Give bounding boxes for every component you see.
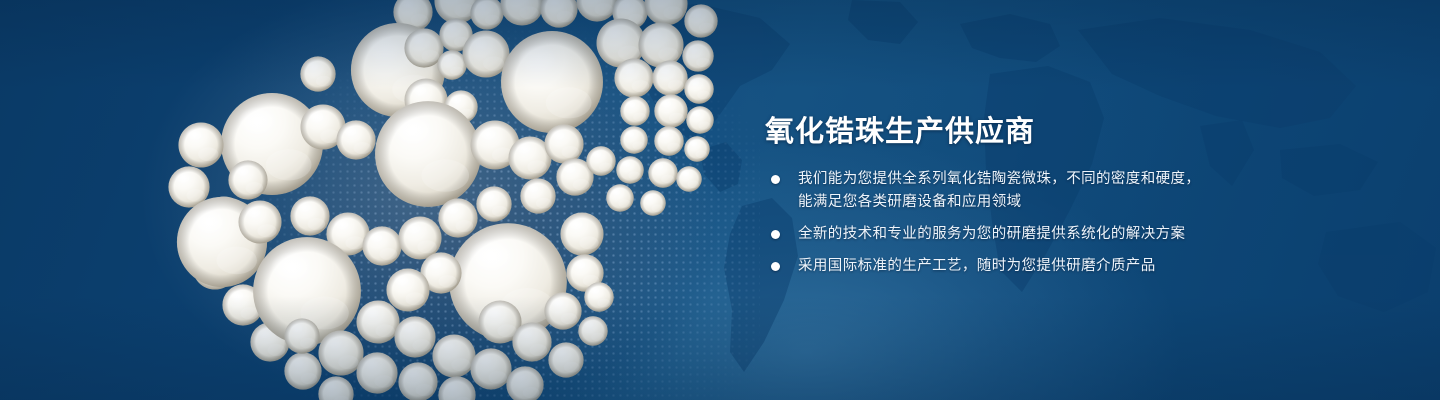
bullet-dot-icon — [771, 230, 780, 239]
feature-line-1: 采用国际标准的生产工艺，随时为您提供研磨介质产品 — [798, 255, 1235, 278]
bullet-dot-icon — [771, 262, 780, 271]
feature-line-1: 我们能为您提供全系列氧化锆陶瓷微珠，不同的密度和硬度， — [798, 168, 1235, 191]
feature-line-2: 能满足您各类研磨设备和应用领域 — [798, 191, 1235, 214]
bullet-dot-icon — [771, 175, 780, 184]
feature-item: 我们能为您提供全系列氧化锆陶瓷微珠，不同的密度和硬度， 能满足您各类研磨设备和应… — [765, 168, 1235, 214]
feature-item: 采用国际标准的生产工艺，随时为您提供研磨介质产品 — [765, 255, 1235, 278]
feature-item: 全新的技术和专业的服务为您的研磨提供系统化的解决方案 — [765, 223, 1235, 246]
feature-line-1: 全新的技术和专业的服务为您的研磨提供系统化的解决方案 — [798, 223, 1235, 246]
banner-content: 氧化锆珠生产供应商 我们能为您提供全系列氧化锆陶瓷微珠，不同的密度和硬度， 能满… — [765, 0, 1385, 400]
promo-banner: 氧化锆珠生产供应商 我们能为您提供全系列氧化锆陶瓷微珠，不同的密度和硬度， 能满… — [0, 0, 1440, 400]
banner-feature-list: 我们能为您提供全系列氧化锆陶瓷微珠，不同的密度和硬度， 能满足您各类研磨设备和应… — [765, 168, 1235, 278]
banner-headline: 氧化锆珠生产供应商 — [765, 108, 1035, 150]
